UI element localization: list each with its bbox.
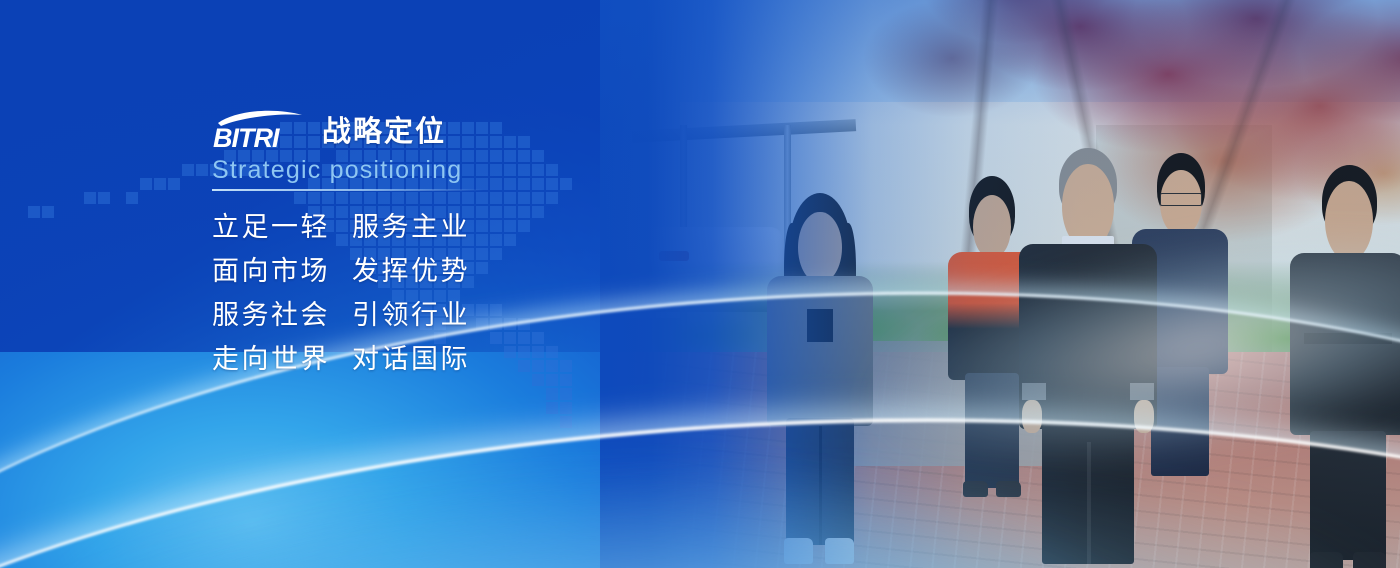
svg-text:BITRI: BITRI: [213, 123, 280, 150]
slogan-row: 走向世界 对话国际: [212, 337, 642, 381]
slogan-right: 引领行业: [352, 293, 470, 332]
banner-content: BITRI 战略定位 Strategic positioning 立足一轻 服务…: [212, 104, 642, 381]
strategic-positioning-banner: BITRI 战略定位 Strategic positioning 立足一轻 服务…: [0, 0, 1400, 568]
bitri-logo[interactable]: BITRI: [212, 106, 308, 150]
title-divider: [212, 189, 484, 191]
slogan-left: 立足一轻: [212, 205, 352, 244]
subtitle-english: Strategic positioning: [212, 157, 642, 183]
slogan-list: 立足一轻 服务主业 面向市场 发挥优势 服务社会 引领行业 走向世界 对话国际: [212, 205, 642, 381]
slogan-left: 走向世界: [212, 337, 352, 376]
slogan-row: 立足一轻 服务主业: [212, 205, 642, 249]
title-row: BITRI 战略定位: [212, 104, 642, 150]
slogan-left: 面向市场: [212, 249, 352, 288]
slogan-right: 发挥优势: [352, 249, 470, 288]
slogan-row: 面向市场 发挥优势: [212, 249, 642, 293]
slogan-right: 对话国际: [352, 337, 470, 376]
slogan-row: 服务社会 引领行业: [212, 293, 642, 337]
slogan-right: 服务主业: [352, 205, 470, 244]
title-chinese: 战略定位: [322, 118, 446, 150]
slogan-left: 服务社会: [212, 293, 352, 332]
